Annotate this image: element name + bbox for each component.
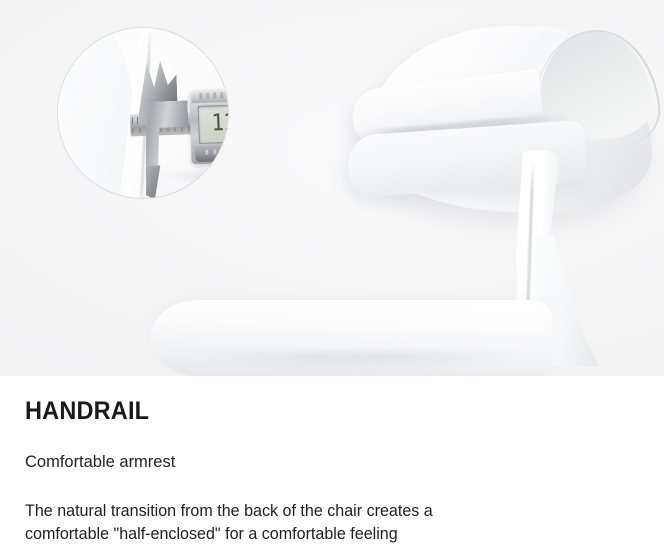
product-photo-panel: 11.02 mm	[0, 0, 664, 376]
chair-seat-top-highlight	[156, 303, 546, 331]
caliper-lcd-display: 11.02 mm	[198, 103, 228, 144]
product-detail-page: 11.02 mm HANDRAIL Comfortable armrest Th…	[0, 0, 664, 560]
section-title: HANDRAIL	[25, 396, 149, 426]
body-line-1: The natural transition from the back of …	[25, 500, 630, 523]
caliper-measurement-value: 11.02	[211, 106, 228, 138]
section-subtitle: Comfortable armrest	[25, 451, 175, 473]
description-text-panel: HANDRAIL Comfortable armrest The natural…	[0, 376, 664, 560]
chair-seat-shadow	[176, 352, 536, 376]
detail-zoom-circle: 11.02 mm	[58, 28, 228, 198]
digital-caliper: 11.02 mm	[92, 64, 228, 167]
section-body-text: The natural transition from the back of …	[25, 500, 630, 546]
chair-backrest-shell	[352, 26, 652, 226]
body-line-2: comfortable "half-enclosed" for a comfor…	[25, 523, 630, 546]
